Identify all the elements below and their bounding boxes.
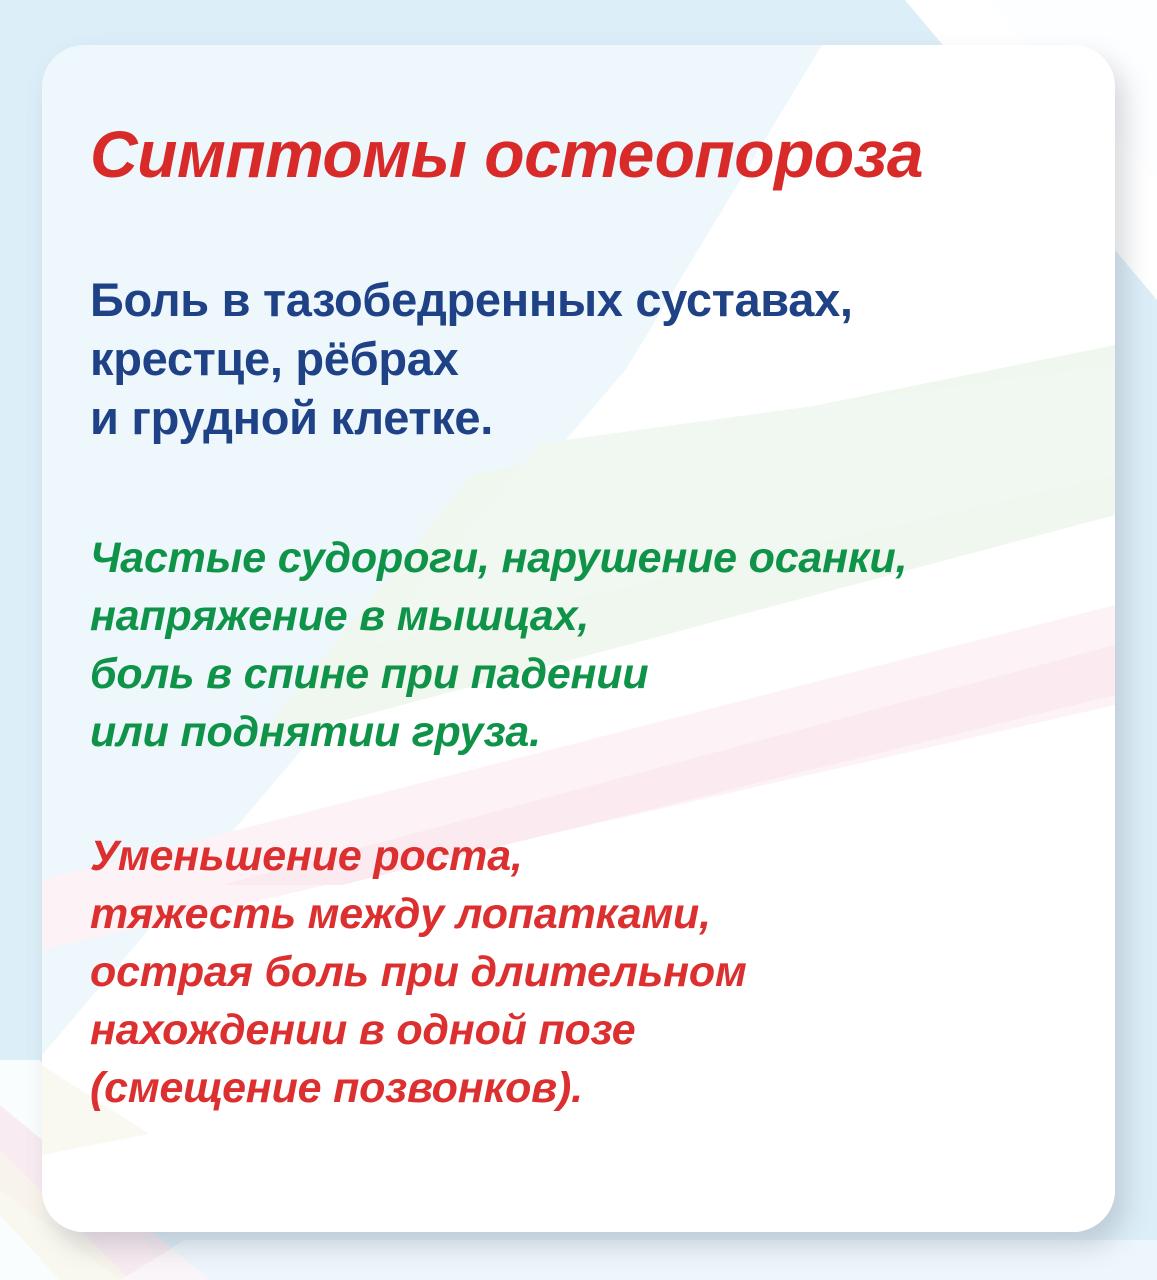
symptom-line: тяжесть между лопатками, <box>90 885 747 943</box>
card-content: Симптомы остеопороза Боль в тазобедренны… <box>90 45 1087 1232</box>
symptom-line: нахождении в одной позе <box>90 1001 747 1059</box>
symptom-line: Боль в тазобедренных суставах, <box>90 270 853 329</box>
content-card: Симптомы остеопороза Боль в тазобедренны… <box>42 45 1115 1232</box>
symptom-line: и грудной клетке. <box>90 388 853 447</box>
symptom-line: напряжение в мышцах, <box>90 587 907 645</box>
poster-page: Симптомы остеопороза Боль в тазобедренны… <box>0 0 1157 1280</box>
symptom-line: боль в спине при падении <box>90 645 907 703</box>
symptom-line: Частые судороги, нарушение осанки, <box>90 529 907 587</box>
symptom-group-height-loss: Уменьшение роста, тяжесть между лопаткам… <box>90 827 747 1117</box>
symptom-line: крестце, рёбрах <box>90 329 853 388</box>
symptom-line: или поднятии груза. <box>90 703 907 761</box>
symptom-group-hip: Боль в тазобедренных суставах, крестце, … <box>90 270 853 447</box>
symptom-line: Уменьшение роста, <box>90 827 747 885</box>
symptom-group-cramps: Частые судороги, нарушение осанки, напря… <box>90 529 907 761</box>
symptom-line: острая боль при длительном <box>90 943 747 1001</box>
bg-wedge-bottom-large <box>120 1240 1157 1280</box>
symptom-line: (смещение позвонков). <box>90 1059 747 1117</box>
page-title: Симптомы остеопороза <box>90 121 923 187</box>
